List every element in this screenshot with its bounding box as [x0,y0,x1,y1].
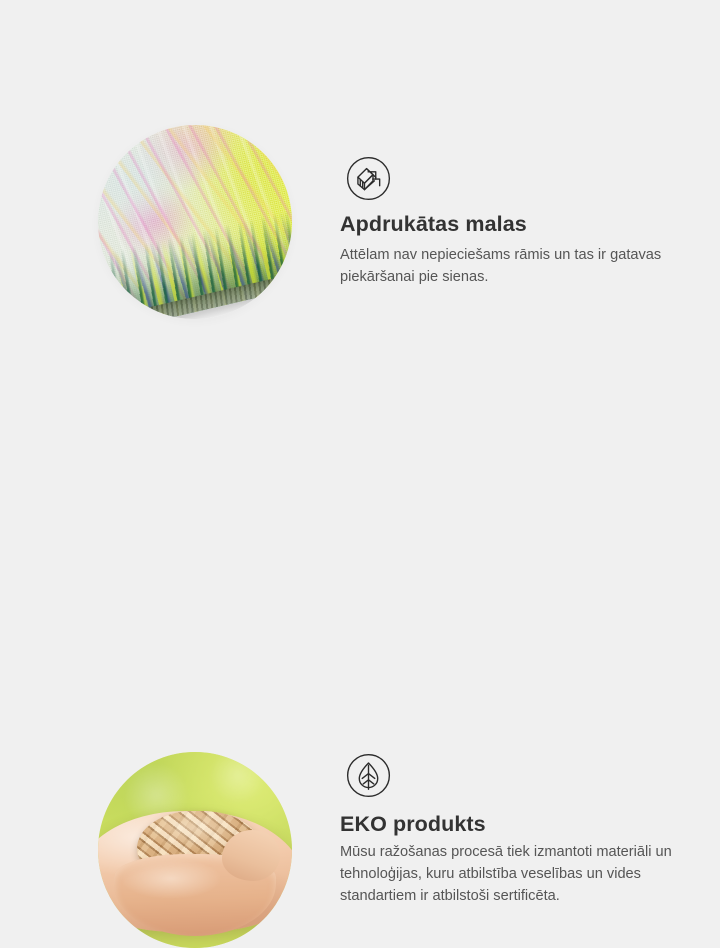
product-feature-panel: Apdrukātas malas Attēlam nav nepieciešam… [0,0,720,720]
canvas-print-corner-photo [98,125,292,319]
leaf-icon [345,752,392,799]
feature-block-printed-edges: Apdrukātas malas Attēlam nav nepieciešam… [0,0,720,360]
feature-block-eco-product: EKO produkts Mūsu ražošanas procesā tiek… [0,360,720,720]
canvas-wrapped-edge-icon [345,155,392,202]
feature-description-eco-product: Mūsu ražošanas procesā tiek izmantoti ma… [340,841,685,907]
canvas-print-object [98,125,292,319]
thumb [222,830,280,881]
hands-holding-wood-chips-photo [98,752,292,948]
feature-description-printed-edges: Attēlam nav nepieciešams rāmis un tas ir… [340,244,685,288]
feature-title-eco-product: EKO produkts [340,812,486,837]
feature-title-printed-edges: Apdrukātas malas [340,212,527,237]
